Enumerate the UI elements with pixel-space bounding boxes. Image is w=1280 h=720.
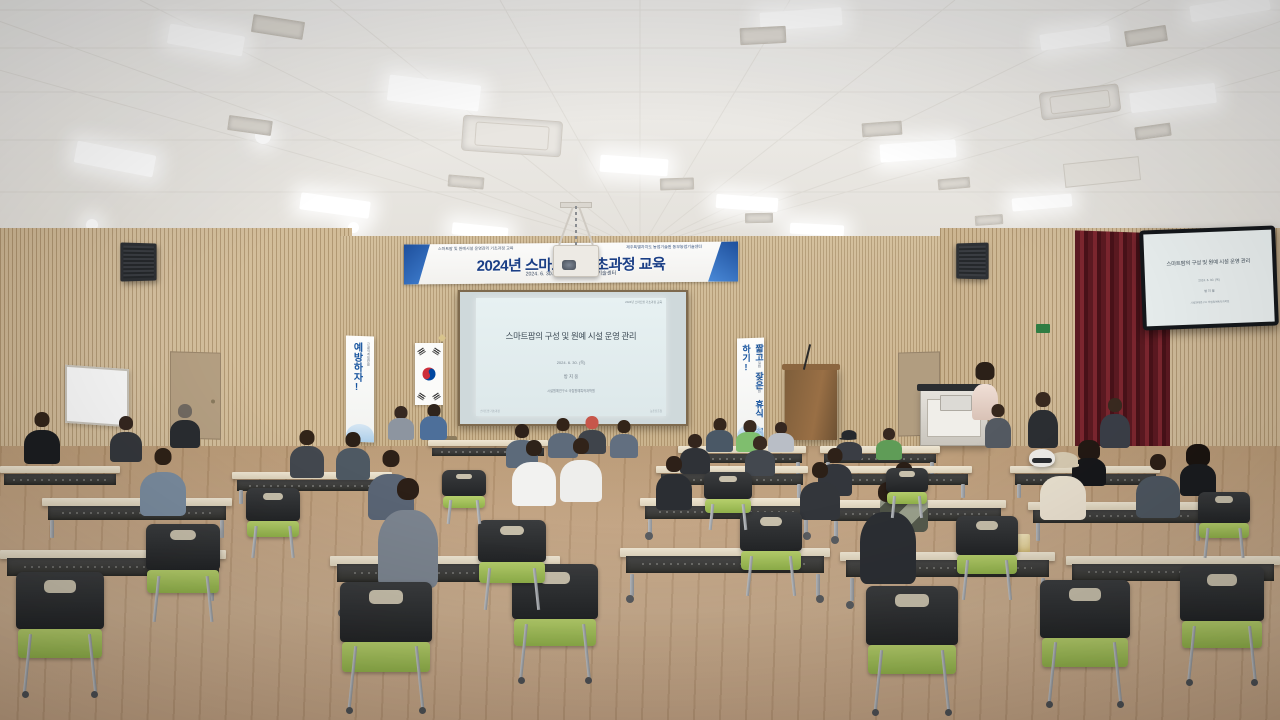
monitor-slide-title: 스마트팜의 구성 및 원예 시설 운영 관리 xyxy=(1144,256,1272,269)
lecture-hall-photo: 스마트팜 및 원예시설 운영관리 기초과정 교육 제주특별자치도 농업기술원 동… xyxy=(0,0,1280,720)
attendee xyxy=(24,412,60,464)
chair[interactable] xyxy=(1198,492,1250,562)
attendee xyxy=(656,456,692,510)
safety-banner-left-sub: 근골격계질환을 xyxy=(366,342,371,366)
attendee xyxy=(170,404,200,448)
ceiling-vent xyxy=(660,177,694,190)
projection-screen: 2024년 스마트팜 기초과정 교육 스마트팜의 구성 및 원예 시설 운영 관… xyxy=(458,290,688,426)
attendee xyxy=(560,438,602,502)
chair[interactable] xyxy=(478,520,546,616)
attendee xyxy=(706,418,733,452)
monitor-slide-date: 2024. 6. 30. (목) xyxy=(1145,276,1273,285)
safety-banner-right-sub: 근골격계 질환 예방을 위한 xyxy=(757,344,762,394)
table-row xyxy=(0,466,120,496)
attendee xyxy=(110,416,142,462)
attendee xyxy=(800,462,840,520)
presentation-slide: 2024년 스마트팜 기초과정 교육 스마트팜의 구성 및 원예 시설 운영 관… xyxy=(476,298,666,416)
helmet xyxy=(1029,449,1055,467)
chair[interactable] xyxy=(1180,566,1264,690)
chair[interactable] xyxy=(886,468,928,522)
ceiling-vent xyxy=(975,214,1004,226)
korean-flag-icon xyxy=(415,343,443,405)
attendee xyxy=(378,478,438,588)
safety-banner-left: 예방하자! 근골격계질환을 xyxy=(346,336,374,443)
attendee xyxy=(876,428,902,460)
ac-cassette xyxy=(461,115,563,158)
laptop-icon xyxy=(940,395,972,411)
attendee xyxy=(985,404,1011,448)
chair[interactable] xyxy=(442,470,486,528)
attendee xyxy=(512,440,556,506)
ceiling-vent xyxy=(862,121,903,138)
slide-presenter: 방 지 웅 xyxy=(476,374,666,380)
attendee xyxy=(1028,392,1058,448)
chair[interactable] xyxy=(866,586,958,720)
safety-banner-left-text: 예방하자! xyxy=(349,342,364,394)
monitor-slide-organization: 시설원예연구소 국립원예특작과학원 xyxy=(1146,298,1274,307)
slide-title: 스마트팜의 구성 및 원예 시설 운영 관리 xyxy=(476,330,666,342)
chair[interactable] xyxy=(16,572,104,702)
chair[interactable] xyxy=(340,582,432,718)
attendee xyxy=(336,432,370,480)
chair[interactable] xyxy=(246,488,300,562)
chair[interactable] xyxy=(704,472,752,534)
wall-monitor: 스마트팜의 구성 및 원예 시설 운영 관리 2024. 6. 30. (목) … xyxy=(1139,225,1279,330)
attendee xyxy=(610,420,638,458)
chair[interactable] xyxy=(1040,580,1130,712)
attendee xyxy=(140,448,186,516)
projector-icon xyxy=(553,245,599,277)
attendee xyxy=(745,436,775,476)
projector-cable xyxy=(575,206,577,248)
attendee xyxy=(290,430,324,478)
chair[interactable] xyxy=(146,524,220,628)
slide-footer-right: 농촌진흥청 xyxy=(650,409,662,413)
attendee xyxy=(1136,454,1180,518)
banner-decor-left xyxy=(404,244,430,284)
chair[interactable] xyxy=(956,516,1018,604)
slide-date: 2024. 6. 30. (목) xyxy=(476,360,666,366)
banner-logo-right: 제주특별자치도 농업기술원 동부농업기술센터 xyxy=(626,244,702,251)
banner-logo-left: 스마트팜 및 원예시설 운영관리 기초과정 교육 xyxy=(438,246,513,253)
attendee xyxy=(420,404,447,440)
ceiling xyxy=(0,0,1280,250)
banner-decor-right xyxy=(708,242,738,282)
ceiling-vent xyxy=(740,26,787,45)
slide-footer-left: 스마트팜 기초과정 xyxy=(480,409,500,413)
attendee xyxy=(1180,444,1216,496)
monitor-slide-presenter: 방 지 웅 xyxy=(1145,286,1273,296)
attendee xyxy=(388,406,414,440)
slide-organization: 시설원예연구소 국립원예특작과학원 xyxy=(476,388,666,393)
ceiling-vent xyxy=(745,213,773,223)
exit-sign xyxy=(1036,324,1050,333)
wall-speaker-icon xyxy=(120,242,156,281)
slide-header: 2024년 스마트팜 기초과정 교육 xyxy=(625,300,662,304)
wall-speaker-icon xyxy=(956,243,988,280)
